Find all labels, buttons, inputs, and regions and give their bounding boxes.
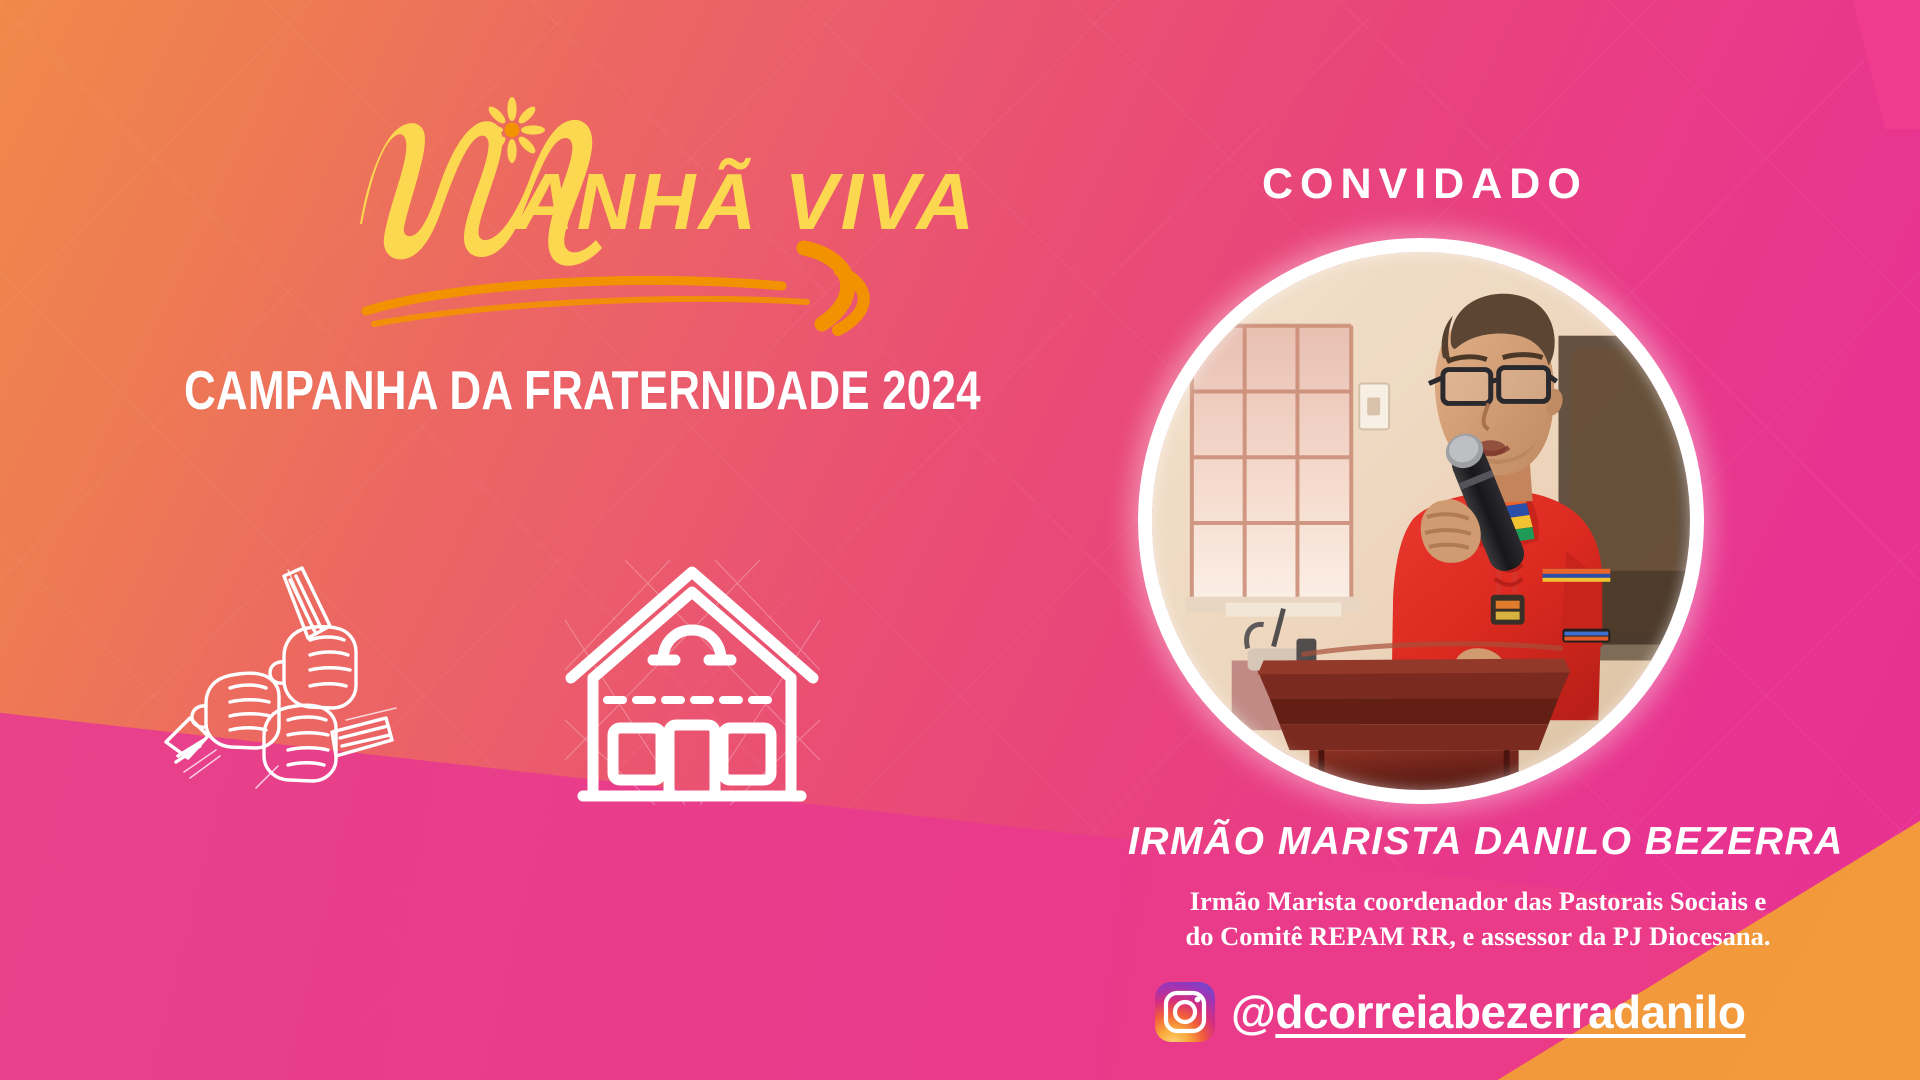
instagram-link[interactable]: @dcorreiabezerradanilo (1155, 982, 1745, 1042)
logo-wordmark: ANHÃ VIVA (514, 157, 977, 246)
swoosh-icon (366, 248, 864, 330)
guest-description-line-2: do Comitê REPAM RR, e assessor da PJ Dio… (1108, 919, 1848, 954)
guest-photo-frame (1138, 238, 1704, 804)
promo-banner: ANHÃ VIVA CAMPANHA DA FRATERNIDADE 2024 (0, 0, 1920, 1080)
guest-description-line-1: Irmão Marista coordenador das Pastorais … (1108, 884, 1848, 919)
guest-description: Irmão Marista coordenador das Pastorais … (1108, 884, 1848, 954)
instagram-icon[interactable] (1155, 982, 1215, 1042)
guest-section-label: CONVIDADO (1262, 160, 1588, 209)
portrait-ring (1138, 238, 1704, 804)
page-title: CAMPANHA DA FRATERNIDADE 2024 (184, 358, 981, 422)
manha-viva-logo: ANHÃ VIVA (352, 96, 972, 266)
house-icon (565, 560, 820, 805)
at-symbol: @ (1231, 985, 1275, 1039)
guest-name: IRMÃO MARISTA DANILO BEZERRA (1128, 820, 1828, 864)
clasped-hands-icon (160, 560, 410, 800)
handle-text[interactable]: dcorreiabezerradanilo (1275, 985, 1745, 1039)
instagram-handle[interactable]: @dcorreiabezerradanilo (1231, 985, 1745, 1039)
